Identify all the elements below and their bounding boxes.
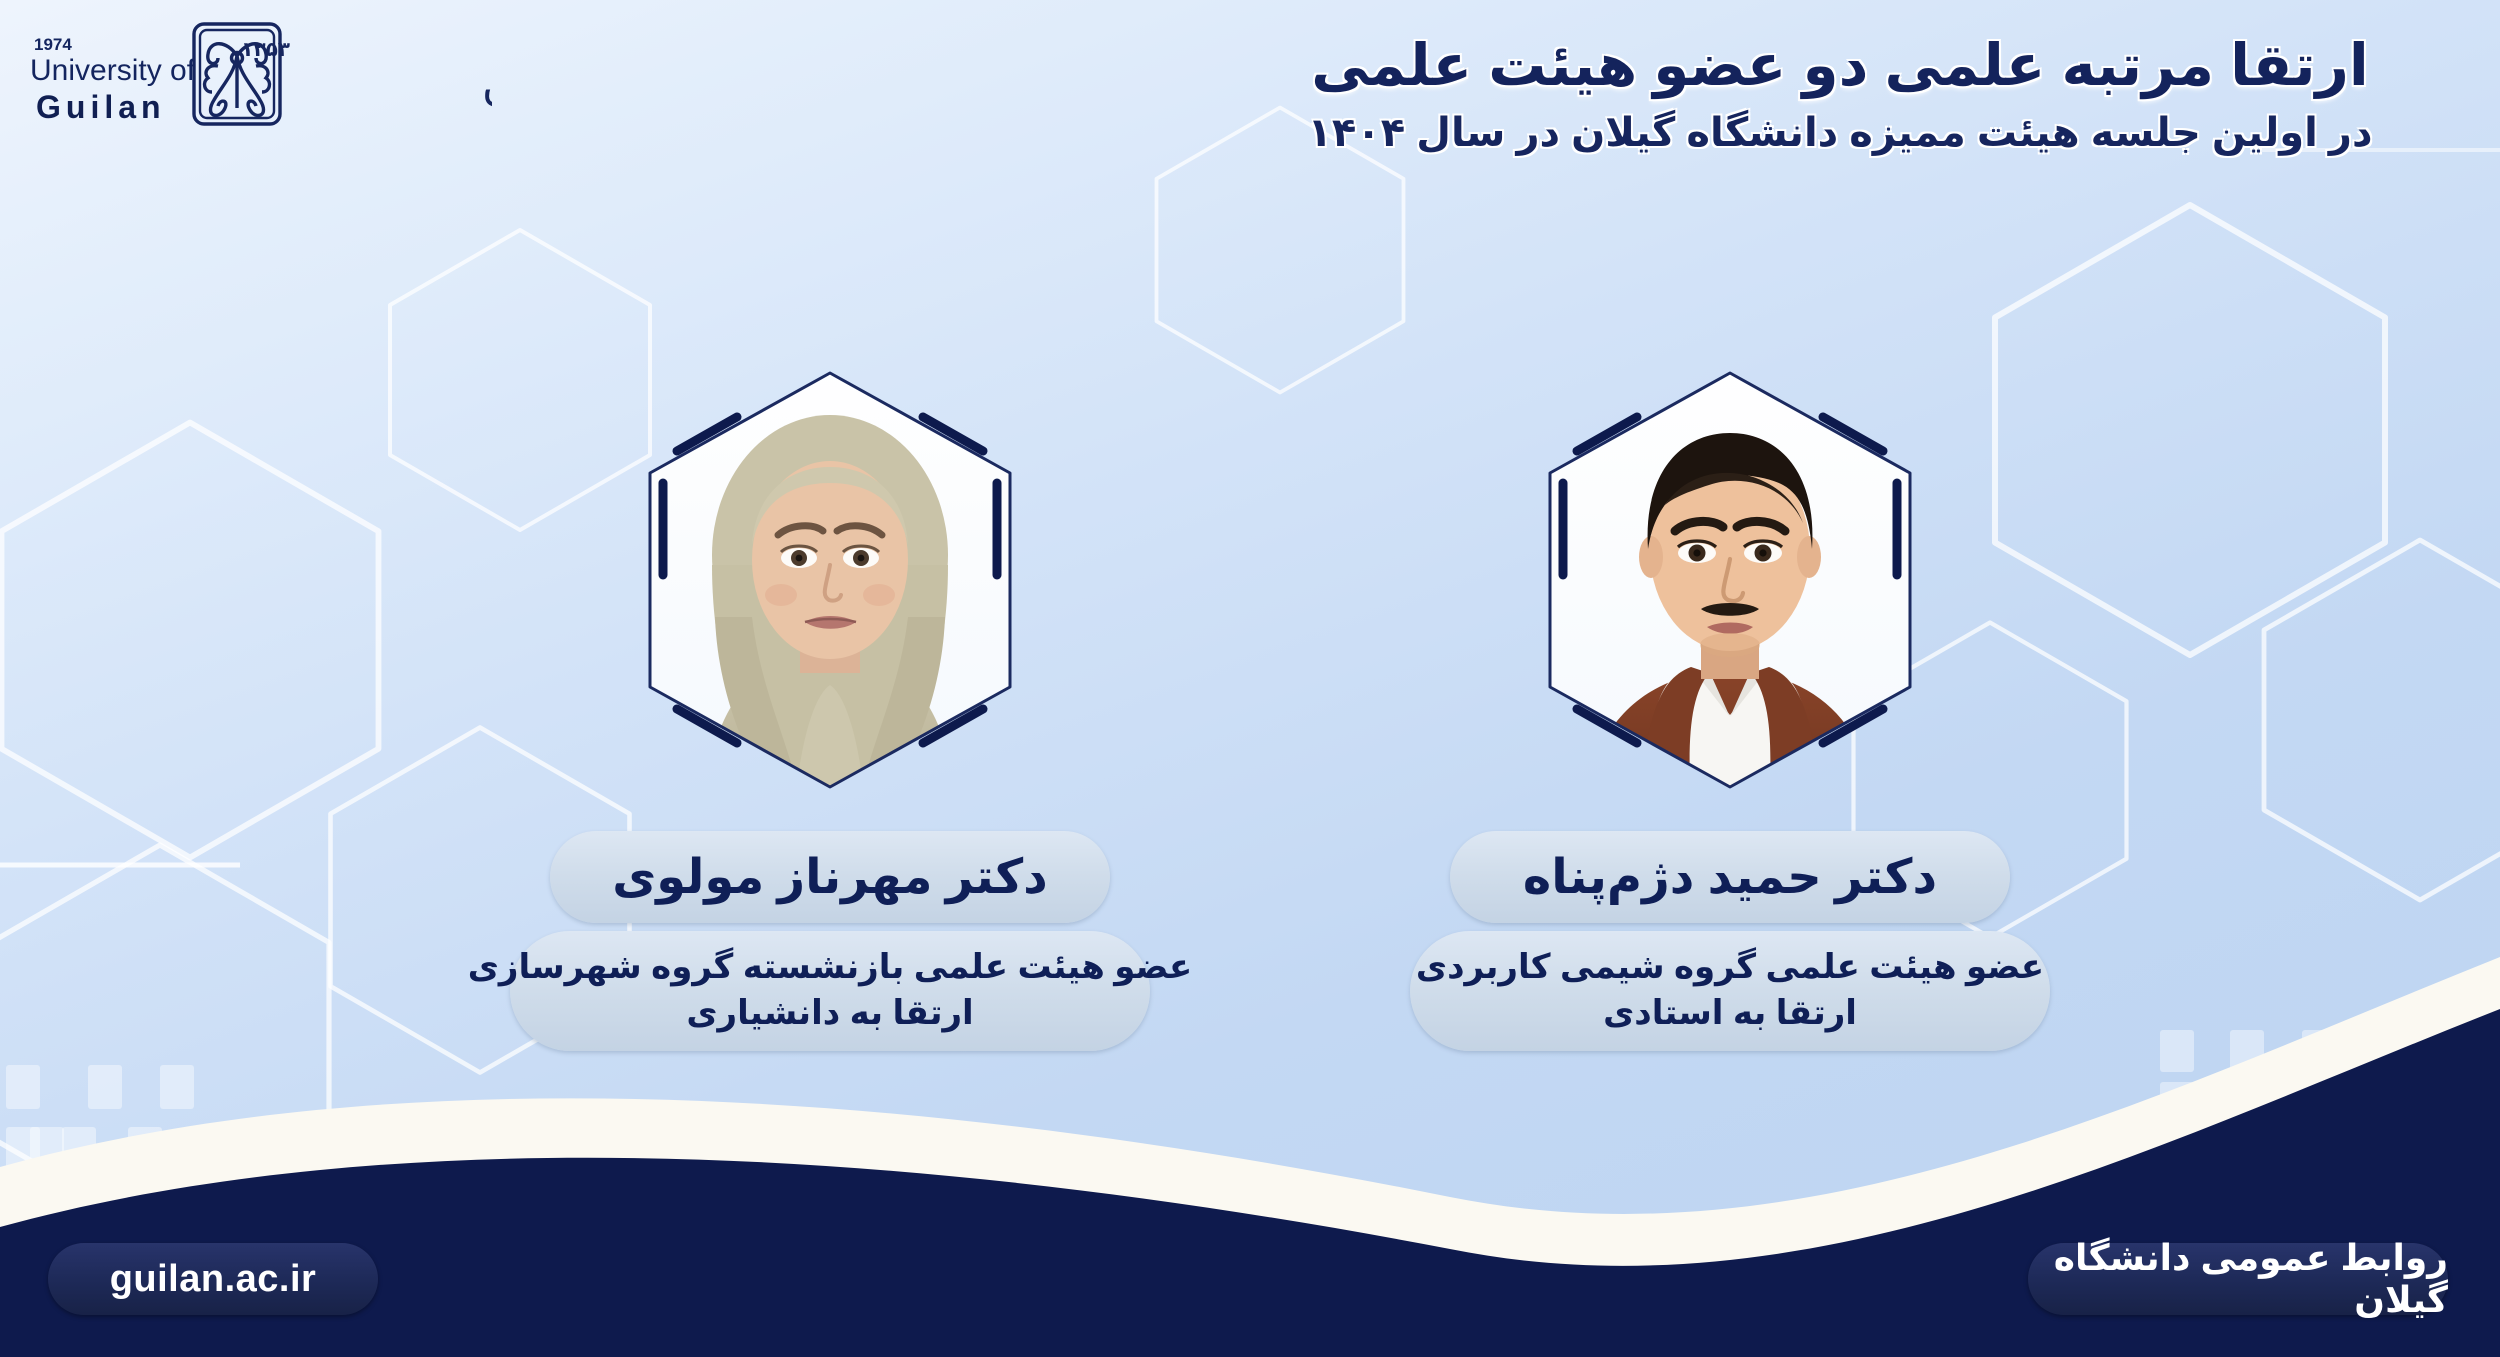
public-relations-badge: روابط عمومی دانشگاه گیلان xyxy=(2028,1243,2448,1315)
portrait-photo xyxy=(1515,355,1945,805)
people-section: دکتر مهرناز مولوی عضو هیئت علمی بازنشسته… xyxy=(0,355,2500,1075)
logo-fa-name: دانشگاه گیلان xyxy=(482,60,492,111)
person-card-hamid-dezhampanah: دکتر حمید دژم‌پناه عضو هیئت علمی گروه شی… xyxy=(1380,355,2080,1051)
person-role-line1: عضو هیئت علمی گروه شیمی کاربردی xyxy=(1416,945,2044,991)
page-title: ارتقا مرتبه علمی دو عضو هیئت علمی xyxy=(1220,32,2460,100)
public-relations-label: روابط عمومی دانشگاه گیلان xyxy=(2028,1237,2448,1321)
person-card-mehrnaz-molavi: دکتر مهرناز مولوی عضو هیئت علمی بازنشسته… xyxy=(480,355,1180,1051)
website-link[interactable]: guilan.ac.ir xyxy=(48,1243,378,1315)
website-label: guilan.ac.ir xyxy=(110,1258,317,1301)
logo-year-fa: ۱۳۵۳ xyxy=(241,37,290,61)
hex-photo-frame xyxy=(1515,355,1945,805)
hex-photo-frame xyxy=(615,355,1045,805)
person-role-line1: عضو هیئت علمی بازنشسته گروه شهرسازی xyxy=(468,945,1193,991)
person-name: دکتر مهرناز مولوی xyxy=(612,849,1048,905)
person-role-pill: عضو هیئت علمی بازنشسته گروه شهرسازی ارتق… xyxy=(510,931,1150,1051)
portrait-photo xyxy=(615,355,1045,805)
page-subtitle: در اولین جلسه هیئت ممیزه دانشگاه گیلان د… xyxy=(1220,108,2460,158)
logo-university-of: University of xyxy=(30,54,196,87)
logo-guilan: Guilan xyxy=(36,89,166,125)
university-logo: 1974 University of Guilan ۱۳۵۳ دانشگاه گ… xyxy=(22,8,492,133)
person-name-pill: دکتر مهرناز مولوی xyxy=(550,831,1110,923)
person-role-line2: ارتقا به دانشیاری xyxy=(686,991,973,1037)
person-role-pill: عضو هیئت علمی گروه شیمی کاربردی ارتقا به… xyxy=(1410,931,2050,1051)
person-name-pill: دکتر حمید دژم‌پناه xyxy=(1450,831,2010,923)
title-block: ارتقا مرتبه علمی دو عضو هیئت علمی در اول… xyxy=(1220,32,2460,158)
person-name: دکتر حمید دژم‌پناه xyxy=(1523,849,1937,905)
person-role-line2: ارتقا به استادی xyxy=(1603,991,1857,1037)
logo-year-en: 1974 xyxy=(34,35,72,54)
